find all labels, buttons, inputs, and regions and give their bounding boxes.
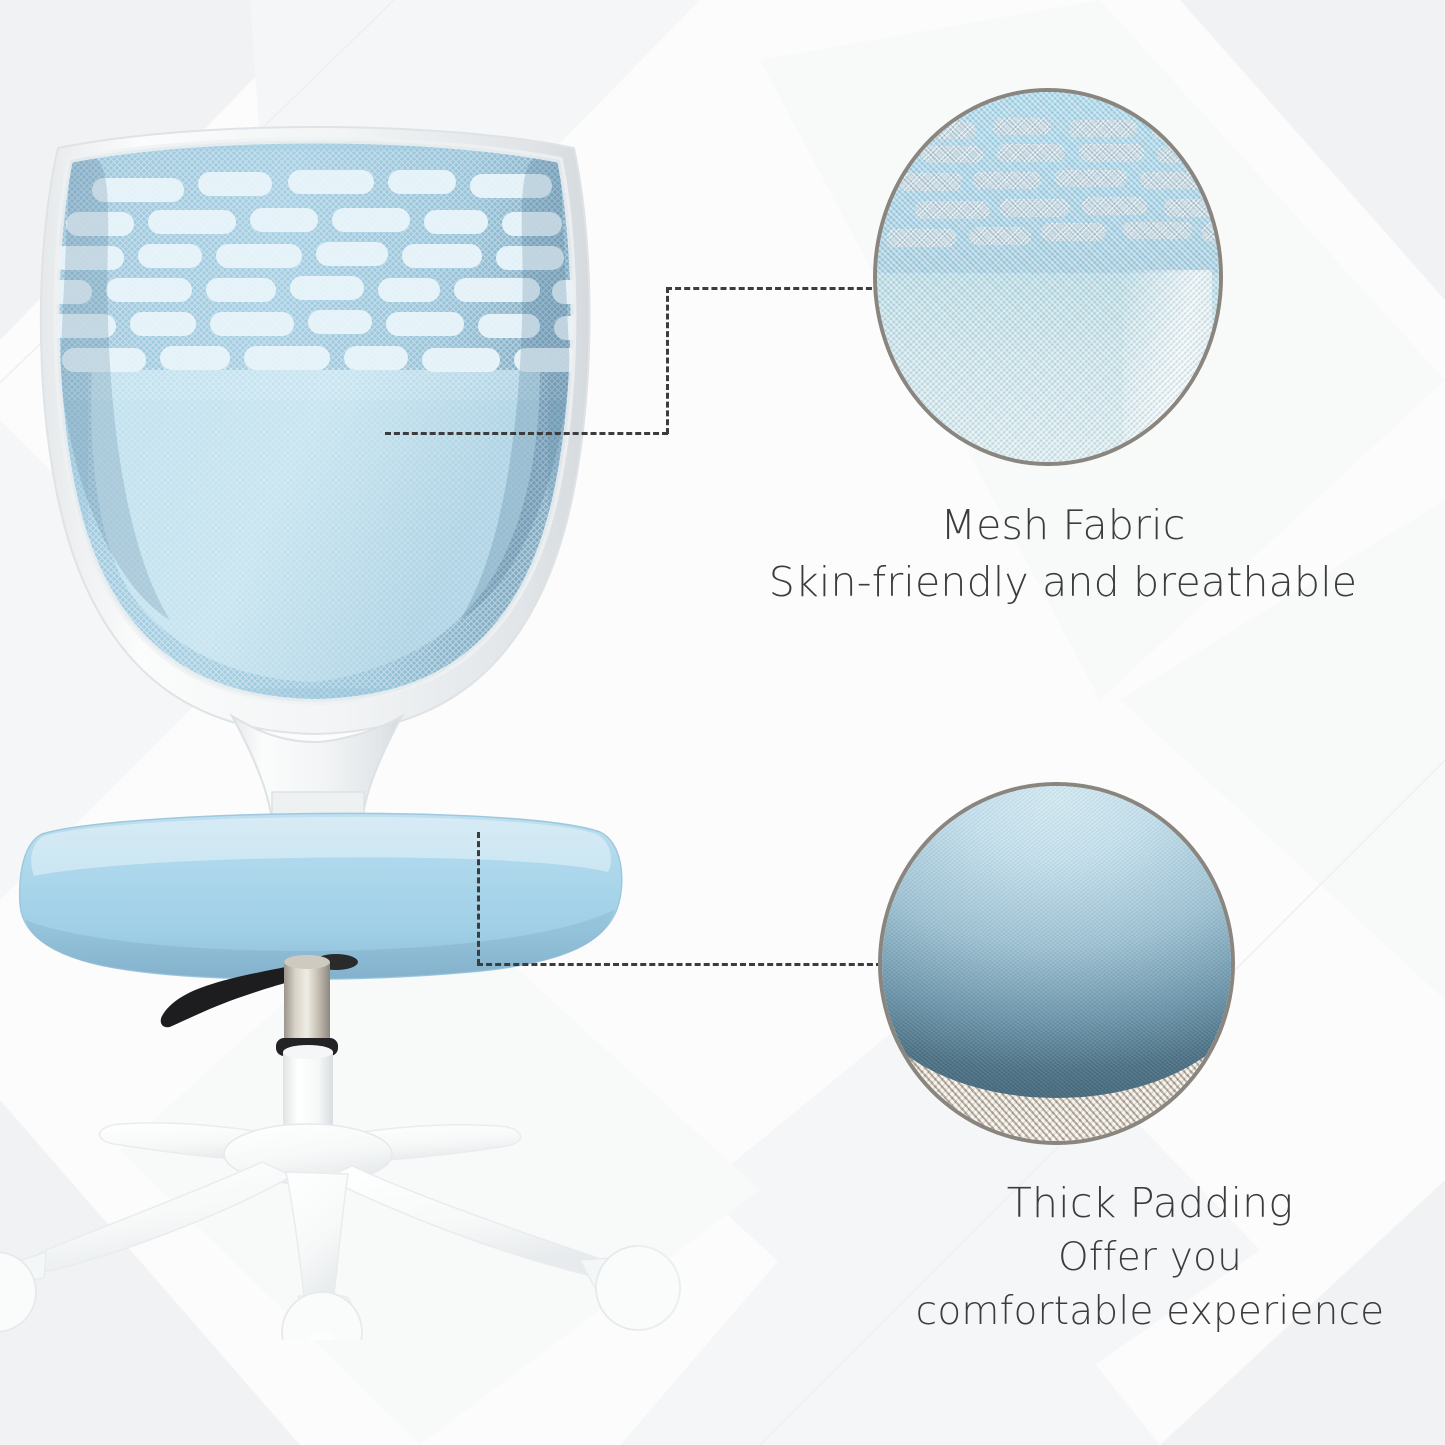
infographic-canvas: Mesh Fabric Skin-friendly and breathable… [0,0,1445,1445]
caption-mesh-subtitle: Skin-friendly and breathable [713,553,1413,611]
caster [282,1292,362,1340]
magnifier-circle-mesh [873,88,1223,466]
caption-pad-title: Thick Padding [870,1175,1430,1231]
caption-mesh-fabric: Mesh Fabric Skin-friendly and breathable [713,497,1413,611]
magnifier-circle-padding [878,782,1235,1145]
caption-pad-line3: comfortable experience [870,1285,1430,1339]
caption-pad-line2: Offer you [870,1231,1430,1285]
caption-thick-padding: Thick Padding Offer you comfortable expe… [870,1175,1430,1339]
mesh-weave-texture [877,92,1219,462]
caption-mesh-title: Mesh Fabric [713,497,1413,553]
caster [0,1252,46,1332]
caster [580,1246,680,1330]
padding-foam-cushion [878,782,1235,1098]
office-chair-illustration [0,120,720,1340]
